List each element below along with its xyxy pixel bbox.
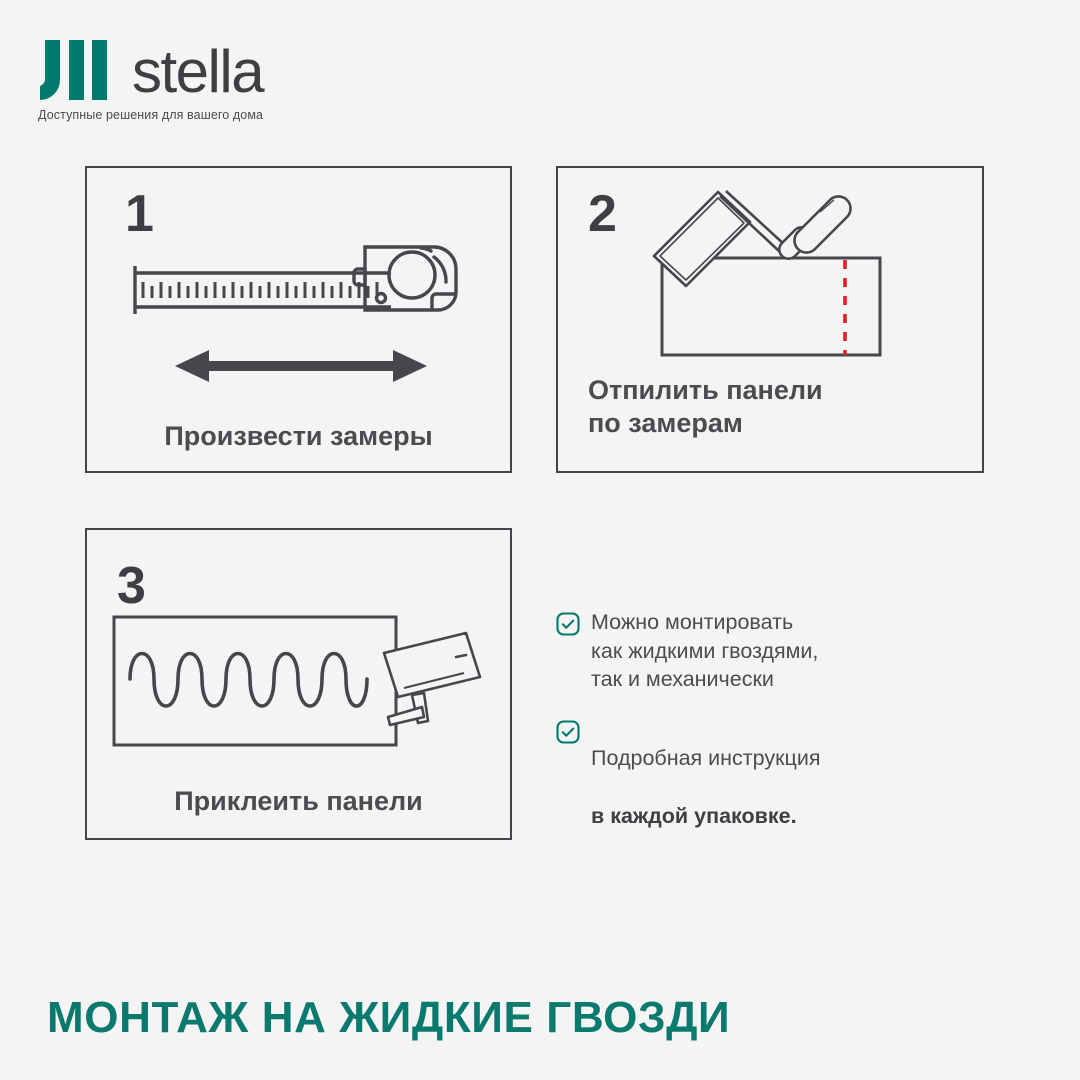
panel-with-cut-line-icon: [598, 186, 938, 366]
glue-bead-wave-icon: [112, 615, 502, 760]
list-item-text-group: Подробная инструкция в каждой упаковке.: [591, 716, 820, 830]
brand-tagline: Доступные решения для вашего дома: [38, 108, 263, 122]
footer-heading: МОНТАЖ НА ЖИДКИЕ ГВОЗДИ: [47, 993, 730, 1043]
check-square-icon: [556, 720, 580, 744]
tape-measure-icon: [129, 230, 474, 330]
step-card-1: 1: [85, 166, 512, 473]
logo-row: stella: [38, 38, 263, 100]
list-item: Можно монтировать как жидкими гвоздями, …: [556, 608, 956, 694]
double-arrow-icon: [175, 346, 427, 386]
step-card-2: 2 Отпилить панели по замерам: [556, 166, 984, 473]
brand-name: stella: [132, 44, 263, 100]
list-item-text-bold: в каждой упаковке.: [591, 804, 797, 828]
list-item: Подробная инструкция в каждой упаковке.: [556, 716, 956, 830]
feature-list: Можно монтировать как жидкими гвоздями, …: [556, 608, 956, 852]
brand-logo-block: stella Доступные решения для вашего дома: [38, 38, 263, 122]
step-caption: Приклеить панели: [87, 785, 510, 818]
check-square-icon: [556, 612, 580, 636]
stella-bars-logo-icon: [38, 40, 114, 100]
list-item-text: Подробная инструкция: [591, 746, 820, 770]
step-card-3: 3 Приклеить панели: [85, 528, 512, 840]
step-caption: Отпилить панели по замерам: [588, 374, 823, 440]
step-number: 3: [117, 560, 146, 612]
step-caption: Произвести замеры: [87, 420, 510, 453]
list-item-text: Можно монтировать как жидкими гвоздями, …: [591, 608, 818, 694]
